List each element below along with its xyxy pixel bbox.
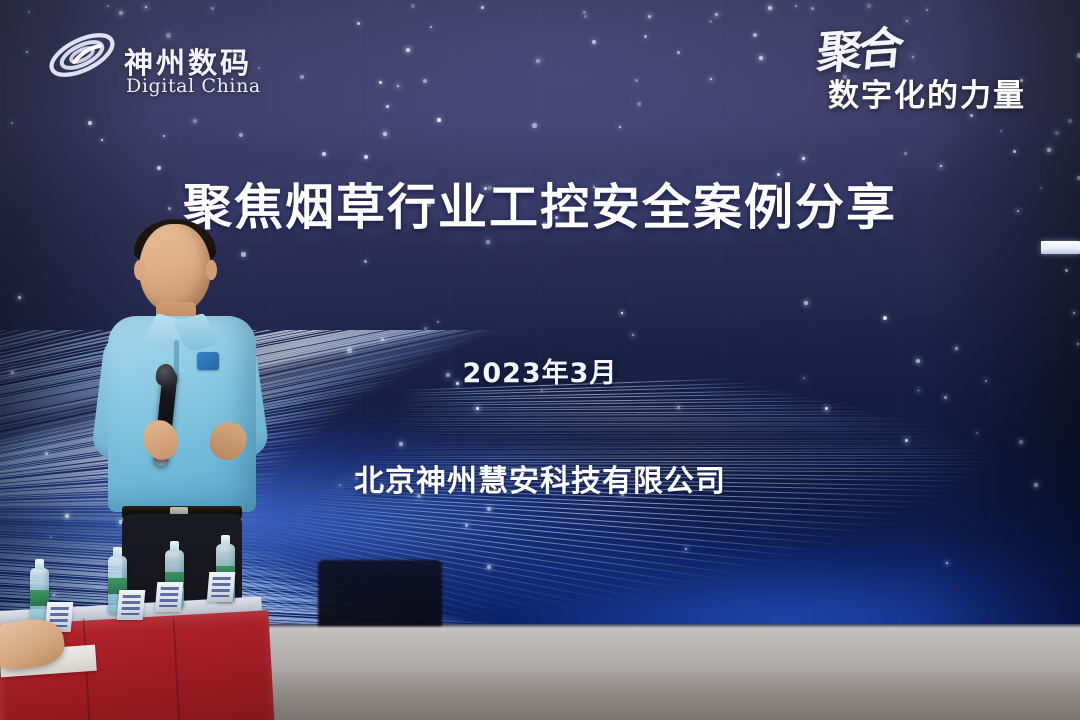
brand-lockup-event: 聚合 数字化的力量 [790, 14, 1058, 112]
event-tagline: 数字化的力量 [828, 70, 1026, 115]
presenter-ear-left [134, 260, 145, 280]
name-card-text [211, 577, 231, 597]
presenter-head [139, 224, 211, 312]
digital-china-swirl-icon [44, 22, 120, 88]
conference-stage-scene: 聚焦烟草行业工控安全案例分享 2023年3月 北京神州慧安科技有限公司 神州数码… [0, 0, 1080, 720]
brand-name-en: Digital China [126, 75, 261, 97]
presenter-ear-right [206, 260, 217, 280]
name-card-text [159, 587, 179, 607]
name-card [155, 582, 184, 612]
name-card [207, 572, 236, 602]
foreground-dark-object [318, 560, 442, 626]
name-card [117, 590, 146, 620]
presenter-polo-shirt [108, 316, 256, 512]
brand-lockup-digital-china: 神州数码 Digital China [44, 18, 276, 94]
screen-edge-marker [1041, 241, 1080, 254]
name-card-text [121, 595, 141, 615]
presenter-chest-logo-badge [197, 352, 219, 370]
